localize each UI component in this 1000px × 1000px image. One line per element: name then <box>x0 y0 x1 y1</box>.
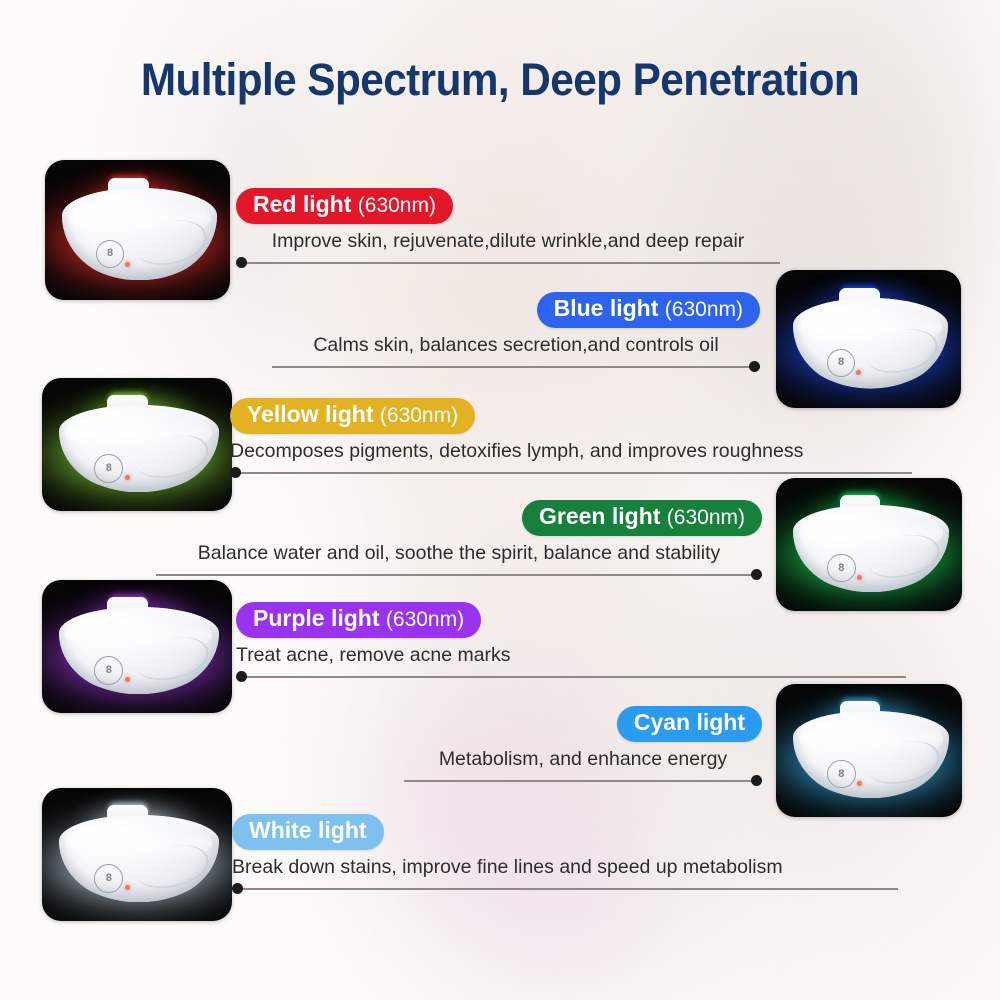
logo-glyph: 8 <box>106 665 112 676</box>
connector-dot <box>232 883 243 894</box>
connector-dot <box>751 569 762 580</box>
led-visor-device: 8 <box>62 188 217 280</box>
led-visor-device: 8 <box>59 815 219 903</box>
led-visor-device: 8 <box>59 405 219 493</box>
light-badge-blue[interactable]: Blue light (630nm) <box>537 292 760 328</box>
spectrum-row-green: Green light (630nm)Balance water and oil… <box>156 500 762 581</box>
light-description-purple: Treat acne, remove acne marks <box>236 643 906 667</box>
light-name-green: Green light <box>539 503 660 529</box>
power-indicator-icon <box>125 475 130 480</box>
spectrum-row-blue: Blue light (630nm)Calms skin, balances s… <box>272 292 760 373</box>
light-description-blue: Calms skin, balances secretion,and contr… <box>272 333 760 357</box>
power-indicator-icon <box>857 781 862 786</box>
light-name-cyan: Cyan light <box>634 709 745 735</box>
figure-eight-logo-icon: 8 <box>827 349 855 377</box>
light-badge-green[interactable]: Green light (630nm) <box>522 500 762 536</box>
figure-eight-logo-icon: 8 <box>827 760 856 789</box>
product-image-red: 8 <box>45 160 230 300</box>
connector-line <box>156 574 762 575</box>
power-indicator-icon <box>125 677 130 682</box>
connector-rule-white <box>232 883 898 895</box>
figure-eight-logo-icon: 8 <box>94 864 123 893</box>
connector-dot <box>751 775 762 786</box>
wavelength-label-green: (630nm) <box>667 506 745 529</box>
led-visor-device: 8 <box>59 607 219 695</box>
connector-rule-purple <box>236 671 906 683</box>
light-description-white: Break down stains, improve fine lines an… <box>232 855 898 879</box>
connector-rule-blue <box>272 361 760 373</box>
product-image-yellow: 8 <box>42 378 232 511</box>
logo-glyph: 8 <box>838 357 844 368</box>
connector-rule-red <box>236 257 780 269</box>
connector-rule-cyan <box>404 775 762 787</box>
light-name-purple: Purple light <box>253 605 380 631</box>
light-name-white: White light <box>249 817 367 843</box>
figure-eight-logo-icon: 8 <box>94 656 123 685</box>
light-badge-red[interactable]: Red light (630nm) <box>236 188 453 224</box>
light-description-green: Balance water and oil, soothe the spirit… <box>156 541 762 565</box>
wavelength-label-blue: (630nm) <box>665 298 743 321</box>
logo-glyph: 8 <box>838 563 844 574</box>
product-image-blue: 8 <box>776 270 961 408</box>
light-badge-purple[interactable]: Purple light (630nm) <box>236 602 481 638</box>
connector-line <box>232 888 898 889</box>
power-indicator-icon <box>857 575 862 580</box>
connector-dot <box>236 671 247 682</box>
connector-line <box>236 676 906 677</box>
connector-dot <box>230 467 241 478</box>
wavelength-label-red: (630nm) <box>358 194 436 217</box>
light-description-yellow: Decomposes pigments, detoxifies lymph, a… <box>230 439 912 463</box>
product-image-cyan: 8 <box>776 684 962 817</box>
figure-eight-logo-icon: 8 <box>827 554 856 583</box>
light-badge-yellow[interactable]: Yellow light (630nm) <box>230 398 475 434</box>
connector-line <box>272 366 760 367</box>
connector-line <box>404 780 762 781</box>
connector-dot <box>749 361 760 372</box>
connector-line <box>236 262 780 263</box>
light-badge-white[interactable]: White light <box>232 814 384 850</box>
logo-glyph: 8 <box>838 769 844 780</box>
logo-glyph: 8 <box>106 463 112 474</box>
light-name-red: Red light <box>253 191 351 217</box>
light-name-blue: Blue light <box>554 295 659 321</box>
logo-glyph: 8 <box>107 248 113 259</box>
light-description-red: Improve skin, rejuvenate,dilute wrinkle,… <box>236 229 780 253</box>
product-image-white: 8 <box>42 788 232 921</box>
led-visor-device: 8 <box>793 505 949 593</box>
logo-glyph: 8 <box>106 873 112 884</box>
product-image-green: 8 <box>776 478 962 611</box>
figure-eight-logo-icon: 8 <box>94 454 123 483</box>
spectrum-row-purple: Purple light (630nm)Treat acne, remove a… <box>236 602 906 683</box>
wavelength-label-purple: (630nm) <box>386 608 464 631</box>
spectrum-row-white: White lightBreak down stains, improve fi… <box>232 814 898 895</box>
connector-dot <box>236 257 247 268</box>
light-description-cyan: Metabolism, and enhance energy <box>404 747 762 771</box>
page-title: Multiple Spectrum, Deep Penetration <box>30 54 970 106</box>
light-name-yellow: Yellow light <box>247 401 374 427</box>
led-visor-device: 8 <box>793 298 948 389</box>
led-visor-device: 8 <box>793 711 949 799</box>
spectrum-row-yellow: Yellow light (630nm)Decomposes pigments,… <box>230 398 912 479</box>
product-image-purple: 8 <box>42 580 232 713</box>
spectrum-row-red: Red light (630nm)Improve skin, rejuvenat… <box>236 188 780 269</box>
connector-rule-green <box>156 569 762 581</box>
connector-rule-yellow <box>230 467 912 479</box>
light-badge-cyan[interactable]: Cyan light <box>617 706 762 742</box>
spectrum-row-cyan: Cyan lightMetabolism, and enhance energy <box>404 706 762 787</box>
connector-line <box>230 472 912 473</box>
wavelength-label-yellow: (630nm) <box>380 404 458 427</box>
power-indicator-icon <box>125 885 130 890</box>
